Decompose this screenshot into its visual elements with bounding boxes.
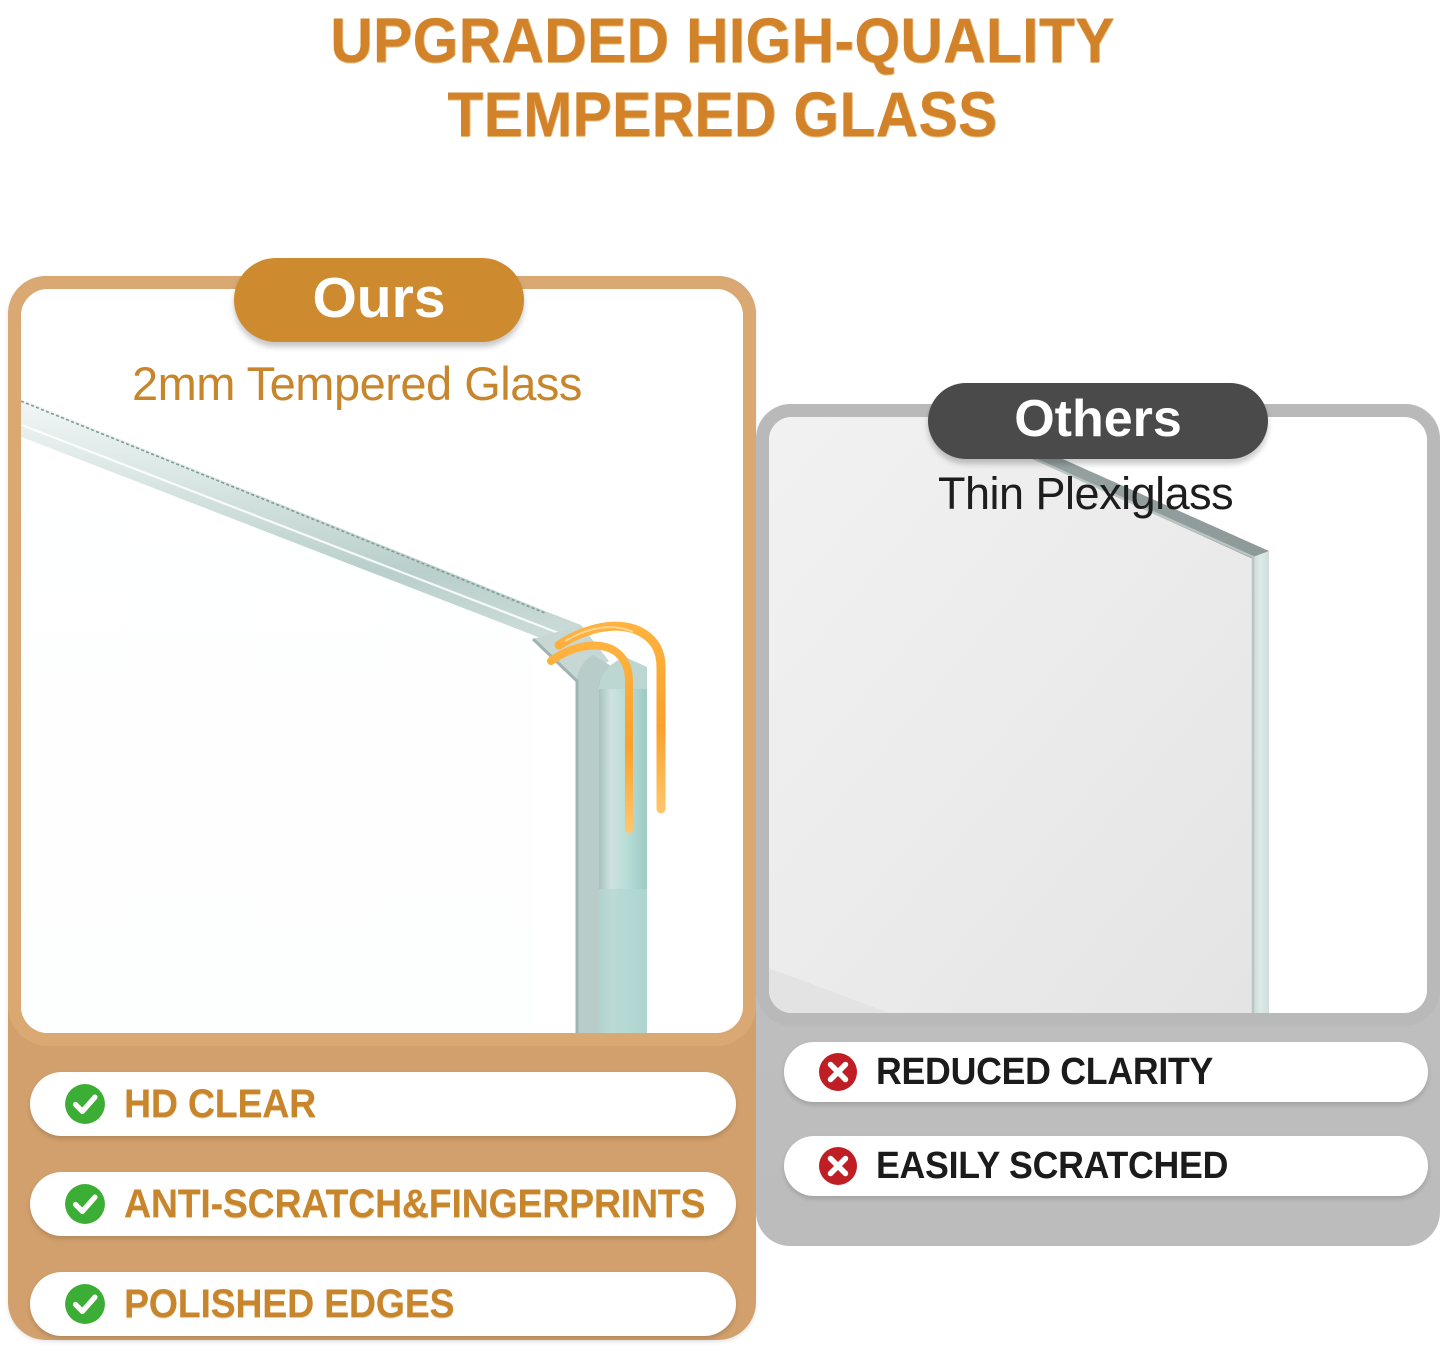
- page-title: UPGRADED HIGH-QUALITY TEMPERED GLASS: [0, 4, 1445, 152]
- others-feature-label: REDUCED CLARITY: [876, 1051, 1213, 1094]
- ours-feature-label: POLISHED EDGES: [124, 1282, 454, 1327]
- others-feature-row: REDUCED CLARITY: [784, 1042, 1428, 1102]
- page-title-line-1: UPGRADED HIGH-QUALITY: [51, 4, 1395, 78]
- ours-feature-label: ANTI-SCRATCH&FINGERPRINTS: [124, 1182, 705, 1227]
- x-circle-icon: [818, 1146, 858, 1186]
- others-feature-row: EASILY SCRATCHED: [784, 1136, 1428, 1196]
- ours-feature-row: HD CLEAR: [30, 1072, 736, 1136]
- others-caption: Thin Plexiglass: [938, 468, 1233, 520]
- ours-feature-row: ANTI-SCRATCH&FINGERPRINTS: [30, 1172, 736, 1236]
- page-title-line-2: TEMPERED GLASS: [51, 78, 1395, 152]
- others-feature-label: EASILY SCRATCHED: [876, 1145, 1228, 1188]
- ours-feature-row: POLISHED EDGES: [30, 1272, 736, 1336]
- others-badge-label: Others: [1014, 389, 1182, 449]
- ours-caption: 2mm Tempered Glass: [132, 356, 582, 411]
- check-circle-icon: [64, 1183, 106, 1225]
- x-circle-icon: [818, 1052, 858, 1092]
- ours-badge: Ours: [234, 258, 524, 342]
- ours-feature-label: HD CLEAR: [124, 1082, 316, 1127]
- check-circle-icon: [64, 1283, 106, 1325]
- check-circle-icon: [64, 1083, 106, 1125]
- others-badge: Others: [928, 383, 1268, 459]
- ours-badge-label: Ours: [312, 265, 445, 331]
